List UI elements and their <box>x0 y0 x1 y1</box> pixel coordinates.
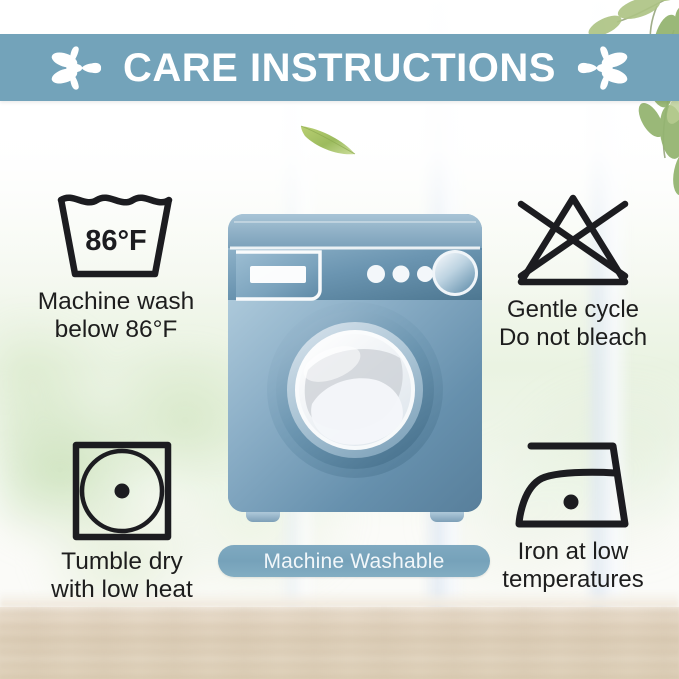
wash-temperature-text: 86°F <box>85 225 147 257</box>
machine-door <box>267 302 443 478</box>
banner: CARE INSTRUCTIONS <box>0 34 679 101</box>
tumble-dry-low-icon <box>71 440 173 542</box>
triangle-crossed-out-icon <box>507 190 639 290</box>
control-dial <box>432 250 478 296</box>
wash-basin-icon: 86°F <box>55 190 177 282</box>
machine-top-lid <box>228 214 482 248</box>
care-item-label: Iron at low temperatures <box>502 538 643 593</box>
indicator-lights <box>367 265 433 283</box>
washing-machine-illustration <box>224 208 486 538</box>
care-item-iron-low: Iron at low temperatures <box>473 440 673 593</box>
care-item-machine-wash: 86°F Machine wash below 86°F <box>16 190 216 344</box>
care-item-label: Tumble dry with low heat <box>51 548 193 604</box>
care-item-tumble-dry: Tumble dry with low heat <box>22 440 222 604</box>
machine-washable-badge-label: Machine Washable <box>263 551 444 572</box>
banner-title: CARE INSTRUCTIONS <box>123 48 556 88</box>
care-item-gentle-cycle-no-bleach: Gentle cycle Do not bleach <box>473 190 673 351</box>
iron-one-dot-icon <box>509 440 637 532</box>
machine-washable-badge: Machine Washable <box>218 545 490 577</box>
care-instructions-card: CARE INSTRUCTIONS <box>0 0 679 679</box>
fleur-de-lis-icon <box>576 45 630 91</box>
wooden-table-surface <box>0 607 679 679</box>
leaf-icon <box>297 120 359 160</box>
care-item-label: Machine wash below 86°F <box>38 288 195 344</box>
detergent-drawer <box>236 252 320 299</box>
care-item-label: Gentle cycle Do not bleach <box>499 296 647 351</box>
fleur-de-lis-icon <box>49 45 103 91</box>
